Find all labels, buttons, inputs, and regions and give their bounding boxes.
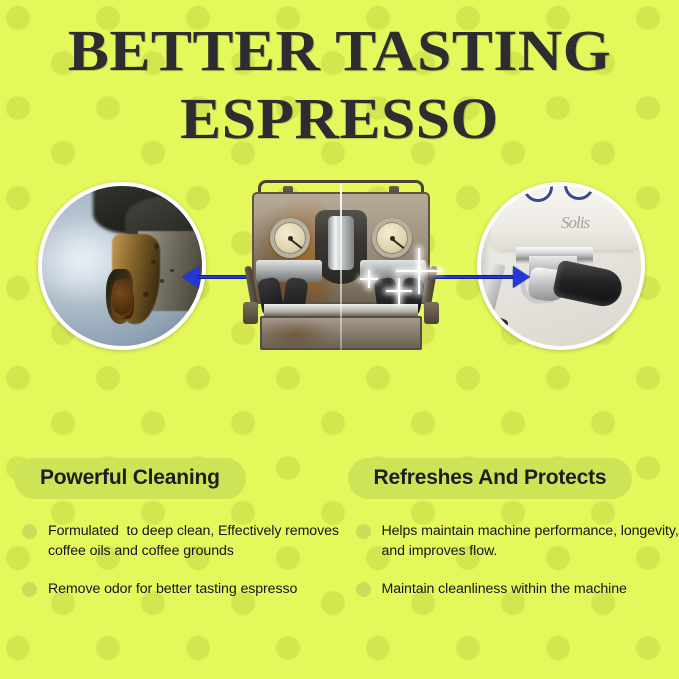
pressure-gauge-icon	[270, 218, 310, 258]
bullet-dot-icon	[356, 524, 371, 539]
machine-brand-logo: Solis	[561, 213, 589, 233]
bullet-dot-icon	[22, 582, 37, 597]
bullet-dot-icon	[22, 524, 37, 539]
benefit-heading-pill: Refreshes And Protects	[348, 458, 633, 499]
bullet-text: Remove odor for better tasting espresso	[48, 579, 297, 599]
benefit-bullet-list: Formulated to deep clean, Effectively re…	[14, 521, 340, 599]
product-infographic: BETTER TASTING ESPRESSO	[0, 0, 679, 679]
bullet-dot-icon	[356, 582, 371, 597]
before-after-divider	[340, 184, 342, 350]
pressure-gauge-icon	[372, 218, 412, 258]
dirty-portafilter-icon	[42, 186, 202, 346]
espresso-machine-icon	[242, 174, 440, 374]
benefit-bullet-list: Helps maintain machine performance, long…	[348, 521, 679, 599]
bullet-text: Helps maintain machine performance, long…	[382, 521, 679, 561]
benefit-column-refreshes-and-protects: Refreshes And Protects Helps maintain ma…	[340, 458, 679, 617]
title-line-2: ESPRESSO	[0, 90, 679, 148]
list-item: Remove odor for better tasting espresso	[14, 579, 340, 599]
bullet-text: Formulated to deep clean, Effectively re…	[48, 521, 340, 561]
page-title: BETTER TASTING ESPRESSO	[0, 22, 679, 148]
title-line-1: BETTER TASTING	[0, 22, 679, 80]
before-circle-inset	[38, 182, 206, 350]
benefit-column-powerful-cleaning: Powerful Cleaning Formulated to deep cle…	[0, 458, 340, 617]
bullet-text: Maintain cleanliness within the machine	[382, 579, 627, 599]
hero-comparison: Solis	[0, 168, 679, 383]
benefit-heading-pill: Powerful Cleaning	[14, 458, 246, 499]
list-item: Formulated to deep clean, Effectively re…	[14, 521, 340, 561]
list-item: Maintain cleanliness within the machine	[348, 579, 679, 599]
list-item: Helps maintain machine performance, long…	[348, 521, 679, 561]
benefits-section: Powerful Cleaning Formulated to deep cle…	[0, 458, 679, 617]
